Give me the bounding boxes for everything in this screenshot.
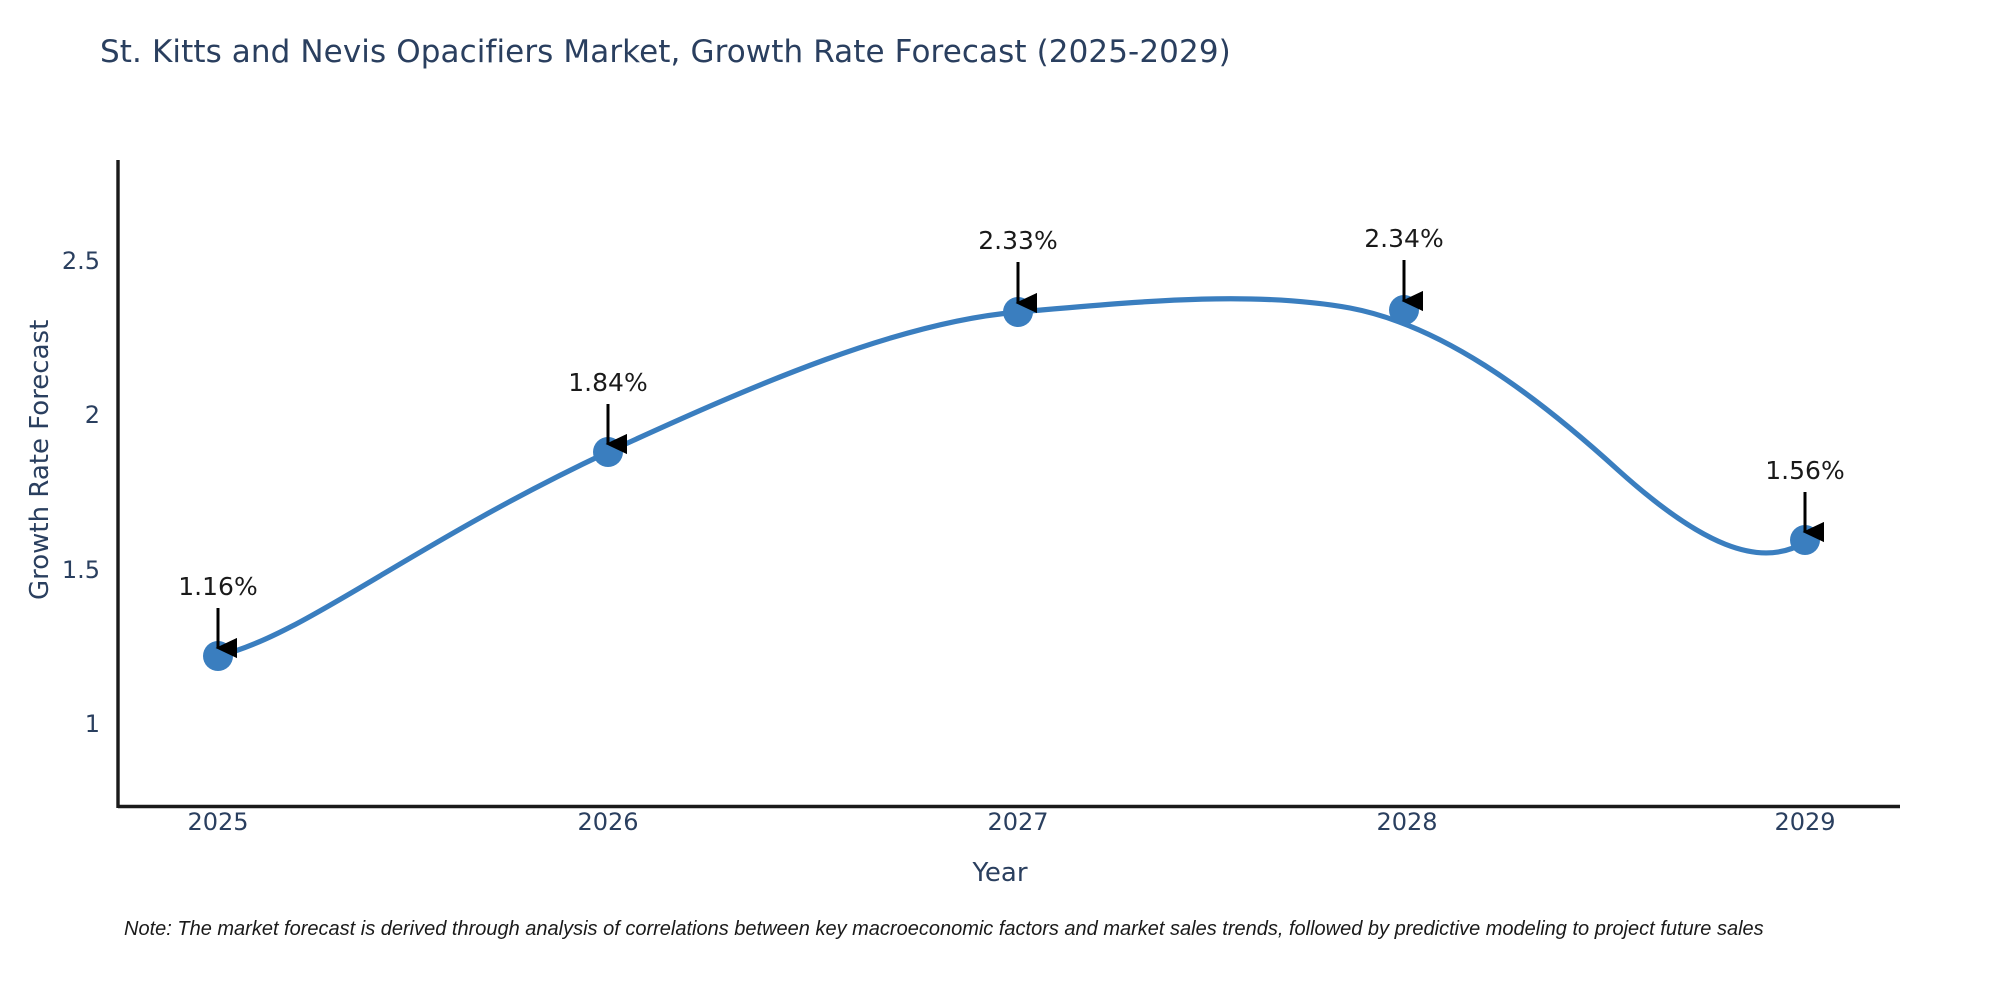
data-label-2029: 1.56% [1715, 456, 1895, 485]
data-label-2026: 1.84% [518, 368, 698, 397]
data-line-series [218, 299, 1805, 656]
data-label-2025: 1.16% [128, 572, 308, 601]
data-label-2028: 2.34% [1314, 224, 1494, 253]
chart-figure: St. Kitts and Nevis Opacifiers Market, G… [0, 0, 2000, 1000]
footnote-text: Note: The market forecast is derived thr… [124, 918, 1764, 941]
data-label-2027: 2.33% [928, 226, 1108, 255]
plot-area [0, 0, 2000, 1000]
